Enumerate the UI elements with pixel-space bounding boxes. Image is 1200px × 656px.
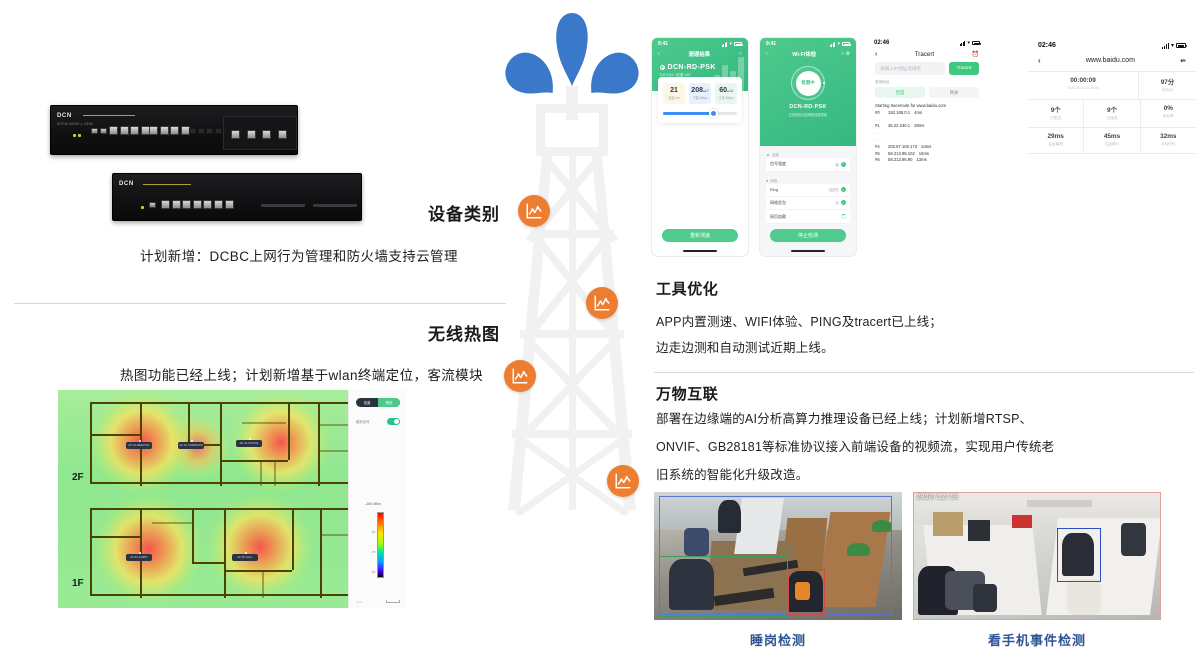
section-divider-2 bbox=[654, 372, 1194, 373]
camera-snapshot-sleep-detection bbox=[654, 492, 902, 620]
seg-option-plan[interactable]: 规划 bbox=[378, 398, 400, 407]
hop-ip: 58.213.95.102 bbox=[888, 151, 915, 158]
tower-structure-svg bbox=[490, 0, 655, 520]
wifi-check-ssid: DCN-RD-PSK bbox=[789, 104, 826, 110]
cell-rtt-min: 29ms 往返最短 bbox=[1028, 128, 1084, 153]
stat-label: 上传 Mbps bbox=[717, 95, 735, 100]
detection-box-region-2 bbox=[913, 492, 1161, 620]
tools-section-line-2: 边走边测和自动测试近期上线。 bbox=[656, 336, 834, 360]
chart-line-icon-badge-3[interactable] bbox=[504, 360, 536, 392]
seg-option-channel[interactable]: 信道 bbox=[356, 398, 378, 407]
heatmap-side-panel: 信道 规划 模拟信号 -100 dBm -85 -70 -55 1 m bbox=[348, 390, 406, 608]
check-ok-icon: ✓ bbox=[841, 200, 846, 205]
cell-tower-illustration bbox=[490, 0, 655, 520]
ap-label: AP-01-MEETING bbox=[128, 444, 149, 447]
cell-rtt-max: 45ms 往返最长 bbox=[1084, 128, 1140, 153]
hop-index: #0 bbox=[875, 110, 884, 117]
progress-ring: 检测中 bbox=[791, 66, 825, 100]
chart-line-icon-badge-4[interactable] bbox=[607, 465, 639, 497]
status-time: 02:46 bbox=[874, 40, 889, 46]
score-label: 综合分 bbox=[1141, 88, 1194, 93]
hop-index: #4 bbox=[875, 144, 884, 151]
stat-value: 21 bbox=[665, 87, 683, 94]
tracert-run-button[interactable]: Tracert bbox=[949, 62, 979, 75]
duration-value: 00:00:09 bbox=[1030, 77, 1136, 84]
camera-timestamp: 2020/12/18 bbox=[916, 494, 958, 502]
wifi-dot-icon bbox=[660, 65, 665, 70]
tools-section-title: 工具优化 bbox=[656, 278, 718, 299]
status-bar: 02:46 ▾ bbox=[1028, 38, 1196, 51]
preset-label: 常用地址 bbox=[868, 75, 986, 87]
cell-label: 已接收 bbox=[1086, 116, 1137, 121]
check-item-pageload[interactable]: 网页加载 bbox=[766, 210, 850, 224]
wifi-icon: ▾ bbox=[1171, 43, 1174, 49]
stat-unit: 17 bbox=[705, 89, 709, 93]
detection-box-desk bbox=[659, 556, 788, 617]
hop-ms: 26ms bbox=[914, 123, 924, 130]
check-item-name: Ping bbox=[770, 187, 778, 192]
group-label: 网络 bbox=[770, 178, 777, 183]
floor-label-2f: 2F bbox=[72, 472, 84, 483]
retest-button[interactable]: 重新测速 bbox=[662, 229, 738, 242]
check-item-packetloss[interactable]: 网络丢包 无✓ bbox=[766, 197, 850, 211]
iot-section-title: 万物互联 bbox=[656, 383, 718, 404]
hop-ip: 36.22.240.1 bbox=[888, 123, 910, 130]
device-category-subtitle: 计划新增：DCBC上网行为管理和防火墙支持云管理 bbox=[140, 245, 458, 265]
detection-box-person bbox=[788, 569, 825, 615]
camera-snapshot-phone-detection: 2020/12/18 bbox=[913, 492, 1161, 620]
ping-result-url: www.baidu.com bbox=[1086, 57, 1135, 64]
check-item-value: 延迟低 bbox=[829, 187, 839, 192]
battery-icon bbox=[972, 41, 980, 45]
cell-label: 平均时长 bbox=[1143, 142, 1194, 147]
back-icon[interactable]: ‹ bbox=[875, 51, 877, 58]
ap-marker[interactable]: AP-01-MEETING bbox=[126, 442, 152, 449]
slider-knob[interactable] bbox=[709, 109, 718, 118]
stat-unit: 14 bbox=[729, 89, 733, 93]
device-brand-label: DCN bbox=[57, 113, 72, 119]
status-bar: 9:41 ▾ bbox=[760, 38, 856, 48]
status-time: 9:41 bbox=[766, 41, 776, 47]
cell-value: 45ms bbox=[1086, 133, 1137, 140]
status-time: 9:41 bbox=[658, 41, 668, 47]
wifi-check-progress: 检测中 DCN-RD-PSK 正在检测当前网络连接质量 bbox=[760, 61, 856, 117]
slide-root: DCN DCFW-1800E-L-0608 bbox=[0, 0, 1200, 656]
hop-ip: 192.168.0.1 bbox=[888, 110, 910, 117]
phone-wifi-check-screenshot: 9:41 ▾ ‹ Wi-Fi体检 ○ ⚙ 检测 bbox=[760, 38, 856, 256]
ping-result-nav: ‹ www.baidu.com ⇚ bbox=[1028, 51, 1196, 71]
wifi-check-nav-title: Wi-Fi体检 bbox=[792, 50, 816, 58]
check-item-ping[interactable]: Ping 延迟低✓ bbox=[766, 184, 850, 197]
check-ok-icon: ✓ bbox=[841, 162, 846, 167]
link-icon: ● bbox=[766, 178, 768, 183]
duration-timestamp: 2023-09-21 14:26:09 bbox=[1030, 86, 1136, 90]
tracert-hop: #558.213.95.10216ms bbox=[875, 151, 979, 158]
device-accent-line bbox=[83, 115, 135, 116]
tracert-hop: ... bbox=[875, 137, 979, 144]
tracert-hop: ... bbox=[875, 117, 979, 124]
status-bar: 9:41 ▾ bbox=[652, 38, 748, 48]
check-ok-icon: ✓ bbox=[841, 187, 846, 192]
iot-section-line-3: 旧系统的智能化升级改造。 bbox=[656, 463, 808, 487]
cell-label: 往返最短 bbox=[1030, 142, 1081, 147]
section-divider-1 bbox=[14, 303, 506, 304]
network-device-photo-1: DCN DCFW-1800E-L-0608 bbox=[50, 105, 298, 155]
share-icon[interactable]: ⇚ bbox=[1180, 57, 1186, 65]
cell-value: 0% bbox=[1143, 105, 1194, 112]
hop-ip: 58.213.95.90 bbox=[888, 157, 912, 164]
cell-label: 已发送 bbox=[1030, 116, 1081, 121]
hop-ip: 202.97.100.173 bbox=[888, 144, 917, 151]
cell-score: 97分 综合分 bbox=[1139, 72, 1196, 99]
chart-line-icon-badge-1[interactable] bbox=[518, 195, 550, 227]
group-label: 连接 bbox=[772, 152, 779, 157]
signal-bars-icon bbox=[1162, 43, 1169, 49]
legend-max-label: -100 dBm bbox=[365, 502, 381, 506]
cell-value: 29ms bbox=[1030, 133, 1081, 140]
status-time: 02:46 bbox=[1038, 42, 1056, 49]
wifi-check-header: 9:41 ▾ ‹ Wi-Fi体检 ○ ⚙ 检测 bbox=[760, 38, 856, 146]
caption-phone-detection: 看手机事件检测 bbox=[913, 630, 1161, 649]
tracert-preset-tabs: 百度 网关 bbox=[868, 87, 986, 98]
check-item-name: 信号强度 bbox=[770, 161, 786, 167]
tracert-log-header: Starting traceroute for www.baidu.com bbox=[875, 103, 979, 110]
device-photo-group: DCN DCFW-1800E-L-0608 bbox=[50, 105, 350, 225]
wifi-check-note: 正在检测当前网络连接质量 bbox=[789, 112, 827, 117]
ap-label: AP-02-CORRIDOR bbox=[179, 444, 203, 447]
device-brand-label-2: DCN bbox=[119, 181, 134, 187]
tracert-hop: ... bbox=[875, 130, 979, 137]
cell-label: 丢包率 bbox=[1143, 114, 1194, 119]
detection-box-person-phone bbox=[1057, 528, 1102, 582]
simulate-signal-row: 模拟信号 bbox=[356, 418, 400, 425]
caption-sleep-detection: 睡岗检测 bbox=[654, 630, 902, 649]
status-icons: ▾ bbox=[722, 42, 742, 47]
ping-result-row-1: 00:00:09 2023-09-21 14:26:09 97分 综合分 bbox=[1028, 72, 1196, 100]
hop-index: #5 bbox=[875, 151, 884, 158]
tools-section-line-1: APP内置测速、WIFI体验、PING及tracert已上线； bbox=[656, 310, 942, 334]
back-icon[interactable]: ‹ bbox=[766, 51, 768, 57]
hop-ms: 13ms bbox=[916, 157, 926, 164]
status-icons: ▾ bbox=[830, 42, 850, 47]
tracert-nav: ‹ Tracert ⏰ bbox=[868, 47, 986, 62]
stat-latency: 21 延迟 ms bbox=[663, 83, 685, 104]
hop-index: ... bbox=[875, 130, 884, 137]
device-model-label: DCFW-1800E-L-0608 bbox=[57, 122, 93, 126]
cell-loss: 0% 丢包率 bbox=[1141, 100, 1196, 127]
hop-index: ... bbox=[875, 137, 884, 144]
signal-strength-legend bbox=[377, 512, 384, 578]
group-header-network: ● 网络 bbox=[766, 175, 850, 184]
stop-check-button[interactable]: 停止检测 bbox=[770, 229, 846, 242]
status-icons: ▾ bbox=[960, 41, 980, 46]
heatmap-mode-toggle[interactable]: 信道 规划 bbox=[356, 398, 400, 407]
tracert-hop: #658.213.95.9013ms bbox=[875, 157, 979, 164]
check-item-value: 无 bbox=[835, 200, 838, 205]
wifi-heatmap-screenshot: AP-01-MEETING AP-02-CORRIDOR AP-03-OFFIC… bbox=[58, 390, 406, 608]
simulate-signal-label: 模拟信号 bbox=[356, 419, 370, 424]
loading-spinner-icon bbox=[841, 214, 846, 219]
signal-bars-icon bbox=[722, 42, 728, 47]
chart-line-icon bbox=[525, 202, 543, 220]
home-indicator bbox=[791, 250, 825, 252]
wifi-icon: ▾ bbox=[837, 42, 840, 47]
wifi-check-nav: ‹ Wi-Fi体检 ○ ⚙ bbox=[760, 48, 856, 61]
home-indicator bbox=[683, 250, 717, 252]
phone-tracert-screenshot: 02:46 ▾ ‹ Tracert ⏰ 请输入IP地址或域名 Tracert bbox=[868, 38, 986, 250]
stat-value: 208. bbox=[691, 87, 705, 94]
history-icon[interactable]: ⏰ bbox=[972, 51, 979, 58]
wifi-icon: ▾ bbox=[729, 42, 732, 47]
hop-ms: 16ms bbox=[919, 151, 929, 158]
cell-sent: 9个 已发送 bbox=[1028, 100, 1084, 127]
ap-label: AP-04-LOBBY bbox=[130, 556, 148, 559]
wifi-icon: ▾ bbox=[967, 41, 970, 46]
wifi-check-group-network: ● 网络 Ping 延迟低✓ 网络丢包 无✓ 网页加载 bbox=[760, 172, 856, 224]
check-item-signal[interactable]: 信号强度 强✓ bbox=[766, 158, 850, 172]
hop-ms: 4ms bbox=[914, 110, 922, 117]
simulate-signal-switch[interactable] bbox=[387, 418, 400, 425]
heatmap-scale-bar bbox=[386, 600, 400, 603]
cell-value: 32ms bbox=[1143, 133, 1194, 140]
ap-marker[interactable]: AP-02-CORRIDOR bbox=[178, 442, 204, 449]
speedtest-stat-card: 21 延迟 ms 208.17 下载 Mbps 60.14 上传 Mbps bbox=[658, 77, 742, 123]
hop-index: #1 bbox=[875, 123, 884, 130]
left-column: DCN DCFW-1800E-L-0608 bbox=[0, 0, 520, 656]
tab-gateway[interactable]: 网关 bbox=[929, 87, 979, 98]
iot-section-line-2: ONVIF、GB28181等标准协议接入前端设备的视频流，实现用户传统老 bbox=[656, 435, 1054, 459]
cell-duration: 00:00:09 2023-09-21 14:26:09 bbox=[1028, 72, 1139, 99]
iot-section-line-1: 部署在边缘端的AI分析高算力推理设备已经上线；计划新增RTSP、 bbox=[656, 407, 1032, 431]
speedtest-nav-title: 测速结果 bbox=[689, 50, 711, 58]
stat-label: 延迟 ms bbox=[665, 95, 683, 100]
ap-marker[interactable]: AP-05-HALL bbox=[232, 554, 258, 561]
heatmap-subtitle: 热图功能已经上线；计划新增基于wlan终端定位，客流模块 bbox=[120, 364, 483, 384]
hop-index: #6 bbox=[875, 157, 884, 164]
speedtest-slider[interactable] bbox=[663, 112, 737, 115]
progress-ring-label: 检测中 bbox=[796, 71, 821, 96]
chart-line-icon-badge-2[interactable] bbox=[586, 287, 618, 319]
cell-value: 9个 bbox=[1030, 105, 1081, 114]
floorplan-1f: AP-04-LOBBY AP-05-HALL bbox=[90, 508, 352, 596]
tracert-nav-title: Tracert bbox=[915, 51, 934, 58]
hop-ms: 34ms bbox=[921, 144, 931, 151]
chart-line-icon bbox=[593, 294, 611, 312]
battery-icon bbox=[734, 42, 742, 46]
tracert-log: Starting traceroute for www.baidu.com #0… bbox=[868, 98, 986, 164]
tab-baidu[interactable]: 百度 bbox=[875, 87, 925, 98]
score-value: 97分 bbox=[1141, 77, 1194, 86]
chart-line-icon bbox=[511, 367, 529, 385]
ap-label: AP-03-OFFICE bbox=[240, 442, 259, 445]
status-icons: ▾ bbox=[1162, 43, 1186, 49]
group-header-connection: ▲ 连接 bbox=[766, 149, 850, 158]
ap-marker[interactable]: AP-04-LOBBY bbox=[126, 554, 152, 561]
check-item-name: 网页加载 bbox=[770, 214, 786, 220]
wifi-check-group-connection: ▲ 连接 信号强度 强✓ bbox=[760, 146, 856, 172]
check-item-value: 强 bbox=[835, 162, 838, 167]
signal-bars-icon bbox=[960, 41, 966, 46]
cell-label: 往返最长 bbox=[1086, 142, 1137, 147]
phone-screenshot-row: 9:41 ▾ ‹ 测速结果 ○ DCN-RD-PS bbox=[648, 38, 1200, 260]
back-icon[interactable]: ‹ bbox=[1038, 56, 1041, 65]
nav-actions[interactable]: ○ ⚙ bbox=[841, 51, 850, 57]
legend-tick: -85 bbox=[371, 530, 375, 534]
battery-icon bbox=[842, 42, 850, 46]
tracert-hop: #4202.97.100.17334ms bbox=[875, 144, 979, 151]
cell-received: 9个 已接收 bbox=[1084, 100, 1140, 127]
right-column: 9:41 ▾ ‹ 测速结果 ○ DCN-RD-PS bbox=[648, 0, 1200, 656]
legend-tick: -55 bbox=[371, 570, 375, 574]
ap-label: AP-05-HALL bbox=[237, 556, 253, 559]
signal-bars-icon bbox=[830, 42, 836, 47]
progress-ring-tick bbox=[823, 82, 825, 84]
check-item-name: 网络丢包 bbox=[770, 200, 786, 206]
tracert-input-row: 请输入IP地址或域名 Tracert bbox=[868, 62, 986, 75]
ping-result-row-3: 29ms 往返最短 45ms 往返最长 32ms 平均时长 bbox=[1028, 128, 1196, 154]
heatmap-scale-label: 1 m bbox=[357, 600, 362, 604]
slider-fill bbox=[663, 112, 712, 115]
network-device-photo-2: DCN bbox=[112, 173, 362, 221]
stat-upload: 60.14 上传 Mbps bbox=[715, 83, 737, 104]
history-icon[interactable]: ○ bbox=[739, 51, 742, 57]
status-bar: 02:46 ▾ bbox=[868, 38, 986, 47]
phone-ping-result-screenshot: 02:46 ▾ ‹ www.baidu.com ⇚ 00:00:09 bbox=[1028, 38, 1196, 188]
tracert-hop: #136.22.240.126ms bbox=[875, 123, 979, 130]
ping-result-grid: 00:00:09 2023-09-21 14:26:09 97分 综合分 9个 … bbox=[1028, 71, 1196, 154]
chart-line-icon bbox=[614, 472, 632, 490]
signal-icon: ▲ bbox=[766, 152, 770, 157]
back-icon[interactable]: ‹ bbox=[658, 51, 660, 57]
speedtest-ssid: DCN-RD-PSK bbox=[668, 64, 716, 71]
floorplan-2f: AP-01-MEETING AP-02-CORRIDOR AP-03-OFFIC… bbox=[90, 402, 352, 484]
speedtest-stats: 21 延迟 ms 208.17 下载 Mbps 60.14 上传 Mbps bbox=[663, 83, 737, 104]
hop-index: ... bbox=[875, 117, 884, 124]
stat-label: 下载 Mbps bbox=[691, 95, 709, 100]
ping-result-row-2: 9个 已发送 9个 已接收 0% 丢包率 bbox=[1028, 100, 1196, 128]
phone-speedtest-screenshot: 9:41 ▾ ‹ 测速结果 ○ DCN-RD-PS bbox=[652, 38, 748, 256]
tracert-host-input[interactable]: 请输入IP地址或域名 bbox=[875, 62, 945, 75]
legend-tick: -70 bbox=[371, 550, 375, 554]
battery-icon bbox=[1176, 43, 1186, 48]
stat-value: 60. bbox=[719, 87, 729, 94]
cell-value: 9个 bbox=[1086, 105, 1137, 114]
stat-download: 208.17 下载 Mbps bbox=[689, 83, 711, 104]
cell-rtt-avg: 32ms 平均时长 bbox=[1141, 128, 1196, 153]
floor-label-1f: 1F bbox=[72, 578, 84, 589]
tracert-hop: #0192.168.0.14ms bbox=[875, 110, 979, 117]
ap-marker[interactable]: AP-03-OFFICE bbox=[236, 440, 262, 447]
